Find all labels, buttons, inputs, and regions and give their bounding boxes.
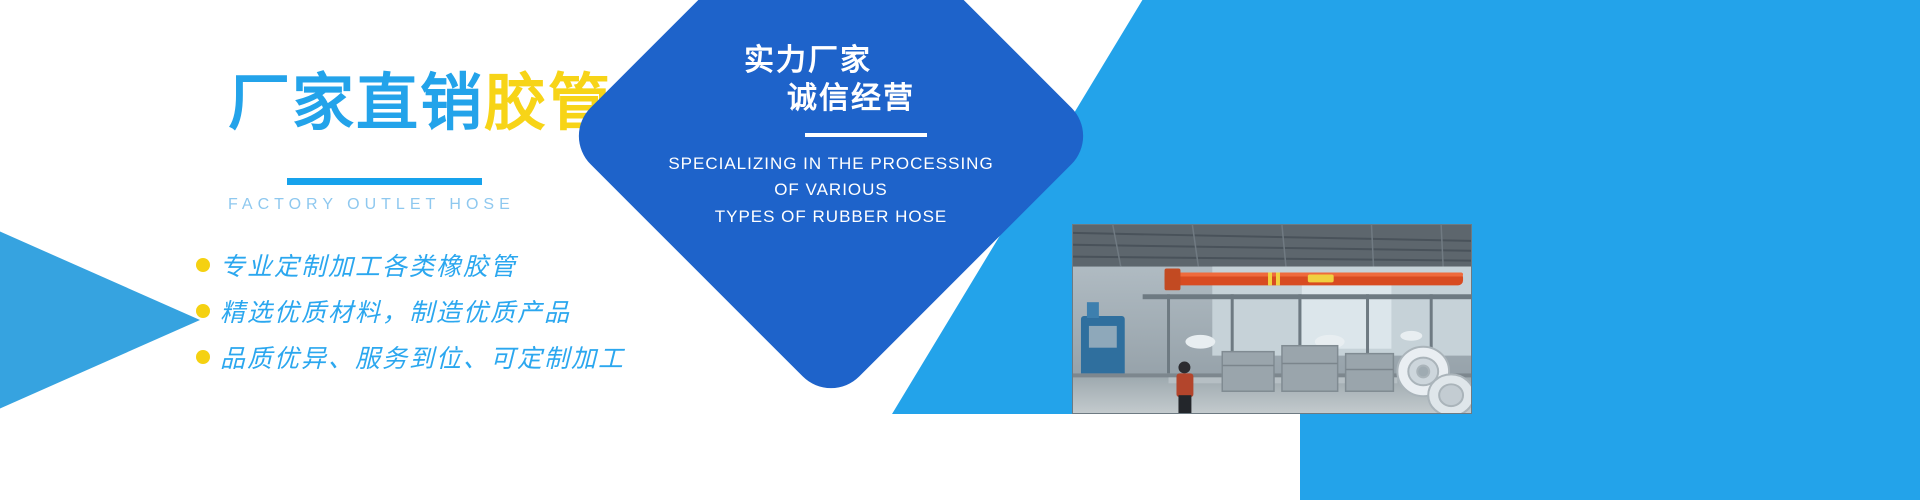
promo-banner: 厂家直销胶管 FACTORY OUTLET HOSE 专业定制加工各类橡胶管 精… — [0, 0, 1920, 500]
feature-list: 专业定制加工各类橡胶管 精选优质材料，制造优质产品 品质优异、服务到位、可定制加… — [196, 243, 625, 381]
list-item-label: 专业定制加工各类橡胶管 — [220, 247, 517, 283]
page-title-primary: 厂家直销 — [228, 69, 484, 138]
page-subtitle: FACTORY OUTLET HOSE — [228, 196, 503, 214]
list-item: 专业定制加工各类橡胶管 — [196, 243, 625, 287]
title-underline-rule — [287, 178, 482, 185]
headline-block: 厂家直销胶管 FACTORY OUTLET HOSE 专业定制加工各类橡胶管 精… — [0, 0, 660, 500]
list-item-label: 精选优质材料，制造优质产品 — [220, 293, 571, 329]
list-item: 品质优异、服务到位、可定制加工 — [196, 335, 625, 379]
factory-photo-illustration — [1073, 225, 1471, 413]
page-title: 厂家直销胶管 — [228, 73, 612, 135]
factory-photo — [1072, 224, 1472, 414]
list-item: 精选优质材料，制造优质产品 — [196, 289, 625, 333]
bullet-dot-icon — [196, 258, 210, 272]
list-item-label: 品质优异、服务到位、可定制加工 — [220, 339, 625, 375]
bullet-dot-icon — [196, 350, 210, 364]
bullet-dot-icon — [196, 304, 210, 318]
